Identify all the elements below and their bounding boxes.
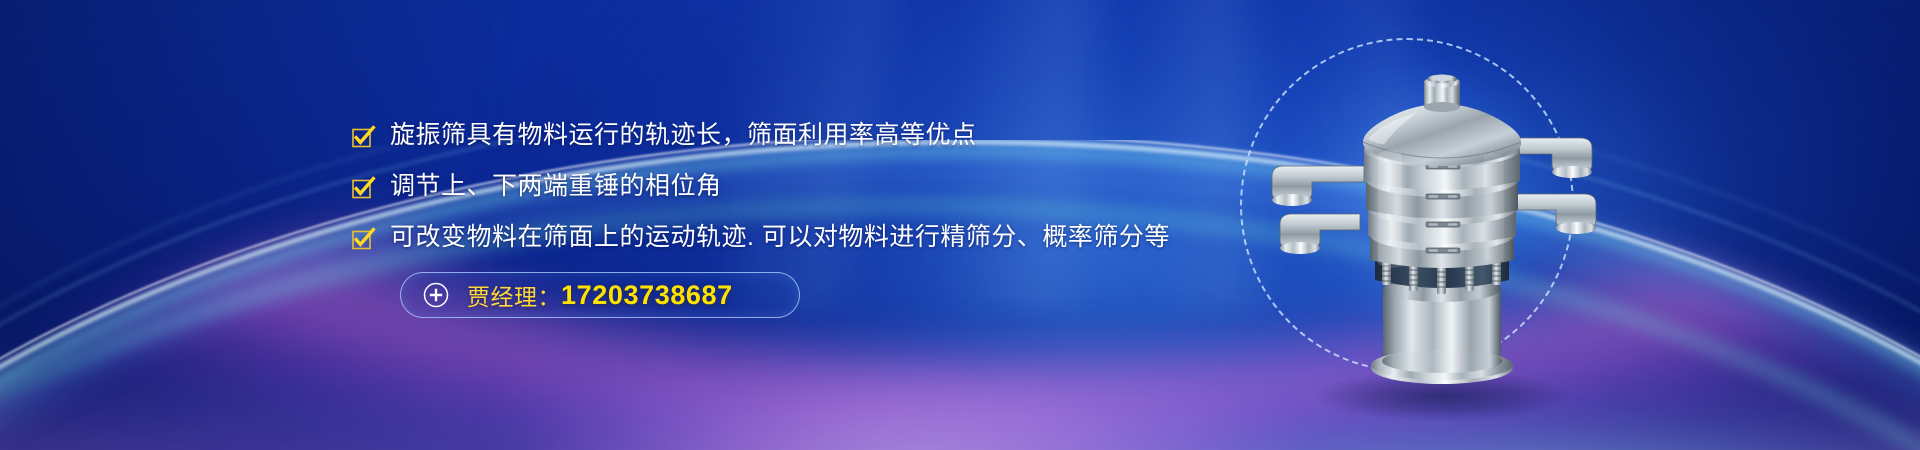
feature-item-1-label: 旋振筛具有物料运行的轨迹长，筛面利用率高等优点	[390, 123, 977, 148]
feature-item-3: 可改变物料在筛面上的运动轨迹. 可以对物料进行精筛分、概率筛分等	[352, 215, 1170, 260]
feature-item-2-label: 调节上、下两端重锤的相位角	[390, 174, 722, 199]
contact-phone-number: 17203738687	[561, 280, 733, 311]
feature-item-2: 调节上、下两端重锤的相位角	[352, 164, 1170, 209]
plus-circle-icon	[423, 282, 449, 308]
contact-button[interactable]: 贾经理： 17203738687	[400, 272, 800, 318]
feature-list: 旋振筛具有物料运行的轨迹长，筛面利用率高等优点 调节上、下两端重锤的相位角	[352, 113, 1170, 266]
contact-label: 贾经理：	[467, 278, 561, 312]
promo-banner: 旋振筛具有物料运行的轨迹长，筛面利用率高等优点 调节上、下两端重锤的相位角	[0, 0, 1920, 450]
rotary-vibrating-screen-illustration	[1232, 8, 1652, 438]
check-square-icon	[352, 126, 374, 148]
feature-item-1: 旋振筛具有物料运行的轨迹长，筛面利用率高等优点	[352, 113, 1170, 158]
check-square-icon	[352, 177, 374, 199]
check-square-icon	[352, 228, 374, 250]
product-image-area	[1232, 8, 1652, 438]
banner-content: 旋振筛具有物料运行的轨迹长，筛面利用率高等优点 调节上、下两端重锤的相位角	[0, 0, 1920, 450]
feature-item-3-label: 可改变物料在筛面上的运动轨迹. 可以对物料进行精筛分、概率筛分等	[390, 225, 1170, 250]
